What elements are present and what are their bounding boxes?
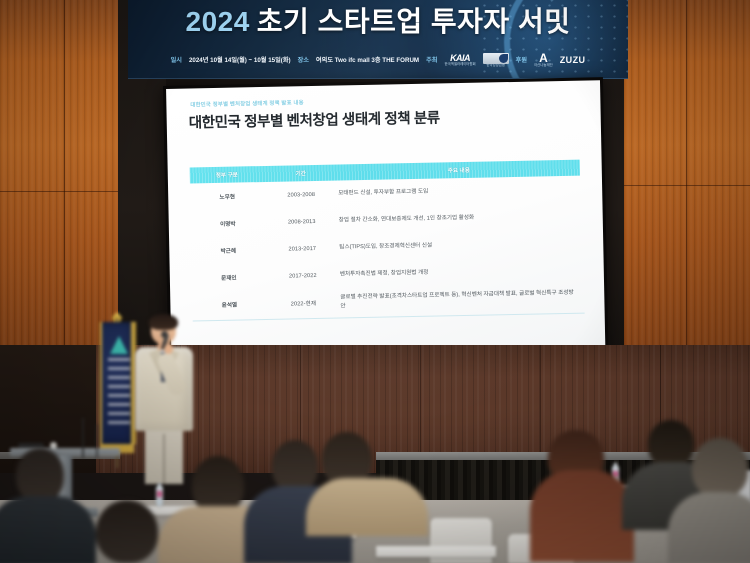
audience-shoulders [0,496,96,563]
kaia-logo-sub: 한국액셀러레이터협회 [444,63,475,67]
wood-panel-right [624,0,750,345]
speaker-hair [149,314,178,330]
cell-period: 2008-2013 [265,218,339,225]
cell-period: 2003-2008 [264,191,338,198]
zuzu-logo: ZUZU [560,55,586,65]
mic-stand-right [96,424,98,458]
flag-text-mark [108,358,130,428]
table-header-period: 기간 [264,169,338,178]
asan-logo: A 아산나눔재단 [534,52,553,68]
mic-stand-left [82,418,84,458]
slide-surface: 대한민국 정부별 벤처창업 생태계 정책 발표 내용 대한민국 정부별 벤처창업… [166,80,605,361]
audience-head [272,440,318,492]
banner-subtitle: 일시 2024년 10월 14일(월) ~ 10월 15일(화) 장소 여의도 … [128,52,628,68]
audience-shirt [668,492,750,563]
cell-content: 창업 절차 간소화, 연대보증제도 개선, 1인 창조기업 활성화 [339,212,581,225]
banner-host-label: 주최 [426,55,437,64]
kaia-logo: KAIA 한국액셀러레이터협회 [444,54,475,67]
financial-logo-sub: 한국성장금융 [486,64,505,68]
financial-logo-mark [483,53,509,64]
cell-content: 모태펀드 신설, 투자부합 프로그램 도입 [338,185,580,198]
podium-object [50,442,57,449]
policy-table: 정부 구분 기간 주요 내용 노무현 2003-2008 모태펀드 신설, 투자… [190,160,583,322]
banner-year: 2024 [186,6,250,37]
conference-photo: 2024초기 스타트업 투자자 서밋 일시 2024년 10월 14일(월) ~… [0,0,750,563]
cell-content: 팁스(TIPS)도입, 창조경제혁신센터 신설 [339,239,581,252]
cell-government: 노무현 [190,191,264,200]
audience-hair [530,470,634,562]
speaker-leg-seam [163,434,165,484]
cell-government: 박근혜 [191,245,265,254]
wood-panel-left [0,0,118,345]
banner-sponsor-label: 후원 [516,55,527,64]
banner-date-label: 일시 [171,55,182,64]
zuzu-logo-mark: ZUZU [560,55,586,65]
banner-place-value: 여의도 Two ifc mall 3층 THE FORUM [316,55,419,64]
banner-date-value: 2024년 10월 14일(월) ~ 10월 15일(화) [189,55,291,64]
cell-period: 2017-2022 [266,272,340,279]
slide-eyebrow: 대한민국 정부별 벤처창업 생태계 정책 발표 내용 [190,98,304,108]
slide-title: 대한민국 정부별 벤처창업 생태계 정책 분류 [189,106,440,132]
cell-government: 이명박 [191,218,265,227]
event-banner: 2024초기 스타트업 투자자 서밋 일시 2024년 10월 14일(월) ~… [128,0,628,79]
audience-head [648,420,694,468]
banner-title-text: 초기 스타트업 투자자 서밋 [257,6,571,37]
table-header-content: 주요 내용 [338,164,580,177]
water-bottle [156,486,163,506]
table-header-government: 정부 구분 [190,170,264,179]
cell-period: 2013-2017 [265,245,339,252]
audience-head [16,448,64,502]
financial-logo: 한국성장금융 [483,53,509,68]
audience-head [692,438,748,498]
projection-screen: 대한민국 정부별 벤처창업 생태계 정책 발표 내용 대한민국 정부별 벤처창업… [163,77,608,364]
cell-period: 2022-현재 [266,298,340,307]
microphone-head-icon [161,331,168,338]
audience-table [376,546,496,557]
banner-place-label: 장소 [298,55,309,64]
audience-jacket [306,478,428,536]
speaker-hand [164,344,173,354]
cell-content: 글로벌 추진전략 발표(초격차스타트업 프로젝트 등), 혁신벤처 자금대책 발… [340,289,582,310]
cell-content: 벤처투자촉진법 제정, 창업지원법 개정 [340,266,582,279]
speaker [133,316,195,484]
asan-logo-sub: 아산나눔재단 [534,64,553,68]
cell-government: 문재인 [192,272,266,281]
flag-emblem-icon [110,336,128,354]
banner-title: 2024초기 스타트업 투자자 서밋 [128,8,628,36]
audience-head [96,500,158,563]
cell-government: 윤석열 [192,299,266,308]
